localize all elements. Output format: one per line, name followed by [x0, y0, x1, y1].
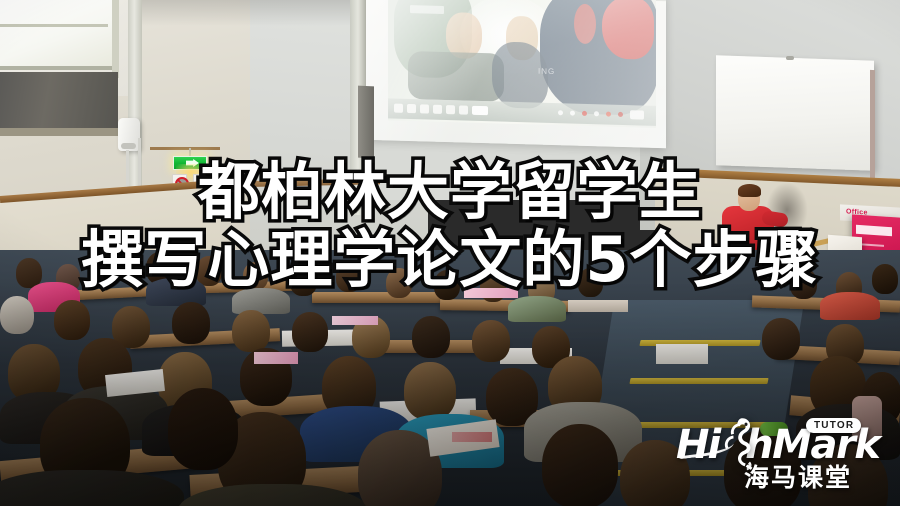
no-phones-sign-icon — [193, 174, 208, 189]
whiteboard-clip — [786, 56, 794, 60]
presenter-hair — [738, 184, 761, 197]
video-overlay-text: ING — [538, 67, 555, 76]
video-dark-lower-left — [408, 51, 504, 102]
projection-screen: ING — [366, 0, 666, 148]
speaker-grill — [121, 143, 136, 149]
promo-banner-image: ING — [0, 0, 900, 506]
no-smoking-sign-icon — [172, 174, 187, 189]
projected-video: ING — [388, 0, 656, 128]
speaker-bracket-secondary — [138, 138, 141, 204]
speaker-bracket — [126, 150, 129, 208]
logo-chinese-name: 海马课堂 — [744, 458, 852, 494]
window-frame — [112, 0, 119, 78]
screen-side-panel — [358, 86, 374, 159]
whiteboard — [716, 55, 874, 171]
video-logo-tag — [410, 5, 444, 14]
video-red-shape-2 — [574, 4, 596, 45]
window — [0, 0, 115, 70]
chalkboard-ledge — [0, 128, 122, 136]
tutor-badge: TUTOR — [806, 418, 861, 433]
wall-trim-rail-upper — [150, 147, 220, 150]
chalkboard-panel — [0, 72, 118, 134]
whiteboard-edge — [870, 70, 875, 178]
video-red-shape — [602, 0, 654, 60]
window-mullion — [0, 24, 108, 27]
brand-logo: HihMark TUTOR 海马课堂 — [676, 414, 872, 492]
